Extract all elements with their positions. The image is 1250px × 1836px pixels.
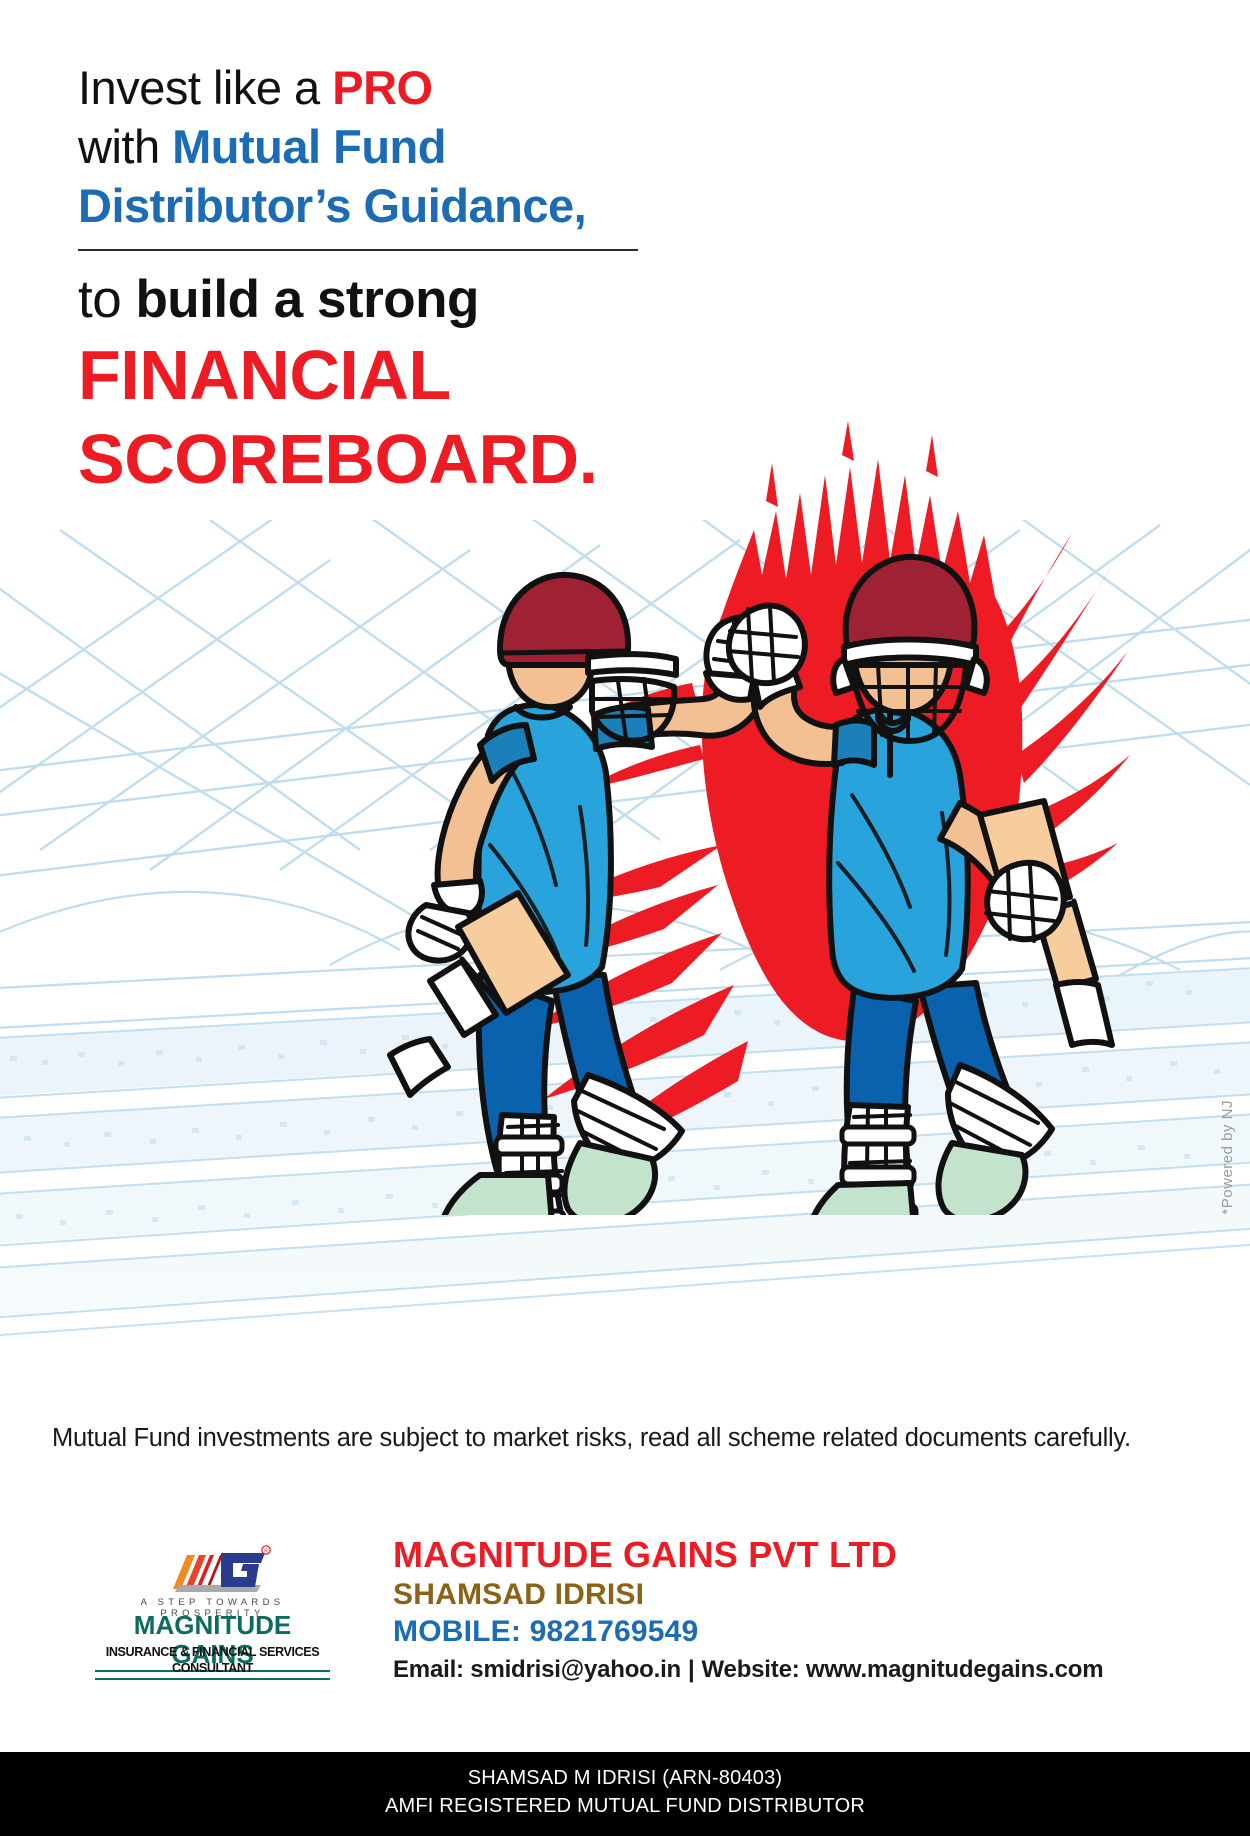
headline-block: Invest like a PRO with Mutual Fund Distr…: [78, 58, 718, 501]
company-logo: R A STEP TOWARDS PROSPERITY MAGNITUDE GA…: [95, 1545, 330, 1665]
headline-line-3: Distributor’s Guidance,: [78, 176, 718, 235]
website-label: Website:: [702, 1656, 806, 1683]
headline-line-4: to build a strong: [78, 267, 718, 333]
contact-mobile[interactable]: MOBILE: 9821769549: [393, 1613, 1193, 1651]
contact-company-name: MAGNITUDE GAINS PVT LTD: [393, 1534, 1193, 1576]
arn-registration-line: SHAMSAD M IDRISI (ARN-80403): [0, 1764, 1250, 1792]
website-value[interactable]: www.magnitudegains.com: [806, 1656, 1103, 1683]
risk-disclaimer-text: Mutual Fund investments are subject to m…: [52, 1424, 1212, 1453]
contact-person-name: SHAMSAD IDRISI: [393, 1576, 1193, 1613]
headline-financial-word: FINANCIAL: [78, 333, 718, 417]
headline-line-4-plain: to: [78, 270, 135, 329]
headline-divider-rule: [78, 249, 638, 251]
headline-line-1-plain: Invest like a: [78, 61, 332, 114]
footer-contact-block: R A STEP TOWARDS PROSPERITY MAGNITUDE GA…: [0, 1520, 1250, 1740]
contact-email-website-line: Email: smidrisi@yahoo.in|Website: www.ma…: [393, 1653, 1193, 1687]
email-value[interactable]: smidrisi@yahoo.in: [470, 1656, 681, 1683]
magnitude-gains-logo-icon: R: [165, 1545, 275, 1593]
headline-pro-word: PRO: [332, 61, 432, 114]
email-label: Email:: [393, 1656, 470, 1683]
headline-line-2: with Mutual Fund: [78, 117, 718, 176]
headline-scoreboard-word: SCOREBOARD.: [78, 417, 718, 501]
headline-line-2-plain: with: [78, 120, 172, 173]
svg-text:R: R: [264, 1548, 268, 1554]
contact-separator: |: [681, 1656, 702, 1683]
powered-by-label: *Powered by NJ: [1219, 1100, 1236, 1215]
arn-footer-bar: SHAMSAD M IDRISI (ARN-80403) AMFI REGIST…: [0, 1752, 1250, 1836]
logo-subtitle: INSURANCE & FINANCIAL SERVICES CONSULTAN…: [95, 1644, 330, 1680]
contact-details: MAGNITUDE GAINS PVT LTD SHAMSAD IDRISI M…: [393, 1534, 1193, 1687]
poster-canvas: Invest like a PRO with Mutual Fund Distr…: [0, 0, 1250, 1836]
headline-mutual-fund-word: Mutual Fund: [172, 120, 446, 173]
left-batsman-figure: [390, 575, 782, 1215]
headline-line-4-bold: build a strong: [135, 270, 478, 329]
headline-line-1: Invest like a PRO: [78, 58, 718, 117]
cricket-celebration-illustration: [330, 415, 1130, 1215]
amfi-distributor-line: AMFI REGISTERED MUTUAL FUND DISTRIBUTOR: [0, 1792, 1250, 1820]
